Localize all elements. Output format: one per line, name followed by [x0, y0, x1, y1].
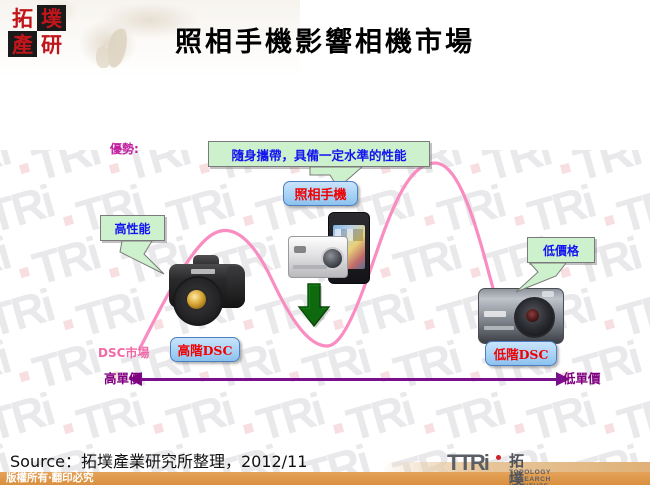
label-box-low-end-dsc-text: 低階DSC: [494, 344, 549, 363]
callout-low-price-label: 低價格: [543, 242, 579, 259]
dslr-grip: [227, 266, 245, 308]
callout-high-performance: 高性能: [100, 215, 165, 241]
compact-camera-lens-inner: [526, 309, 539, 322]
phone-brand-logo: [294, 246, 306, 253]
low-price-label: 低單價: [563, 368, 601, 387]
tri-red-dot-icon: [496, 455, 501, 460]
green-down-arrow-icon: [297, 283, 331, 329]
callout-low-price: 低價格: [527, 237, 595, 263]
slide-canvas: TRiTRiTRiTRiTRiTRiTRiTRiTRiTRiTRiTRiTRiT…: [0, 0, 650, 485]
copyright-text: 版權所有‧翻印必究: [6, 472, 94, 485]
label-box-high-end-dsc: 高階DSC: [170, 337, 240, 362]
advantage-label: 優勢:: [110, 140, 139, 157]
tri-wordmark: TTRi: [447, 452, 488, 474]
price-axis-line: [142, 378, 556, 381]
callout-portable: 隨身攜帶，具備一定水準的性能: [208, 141, 430, 167]
source-note: Source：拓墣產業研究所整理，2012/11: [10, 448, 307, 472]
callout-portable-label: 隨身攜帶，具備一定水準的性能: [231, 145, 406, 164]
phone-front-strip: [293, 265, 327, 269]
label-box-high-end-dsc-text: 高階DSC: [178, 340, 233, 359]
label-box-camera-phone: 照相手機: [283, 181, 358, 206]
label-box-low-end-dsc: 低階DSC: [485, 341, 557, 366]
label-box-camera-phone-text: 照相手機: [294, 184, 346, 203]
callout-high-performance-label: 高性能: [114, 220, 150, 237]
copyright-bar: 版權所有‧翻印必究: [0, 472, 650, 485]
callout-high-performance-tail: [118, 240, 218, 282]
tri-english-name: TOPOLOGY RESEARCH INSTITUTE: [509, 469, 551, 485]
compact-camera-brand-plate: [484, 311, 506, 317]
dslr-lens-glass: [187, 290, 206, 309]
dsc-market-label: DSC市場: [98, 344, 149, 361]
high-price-label: 高單價: [104, 368, 142, 387]
compact-camera-phone-body: [288, 236, 348, 278]
callout-low-price-tail: [512, 262, 592, 300]
compact-camera-model-plate: [484, 326, 514, 330]
camera-phone-image: [288, 212, 378, 290]
